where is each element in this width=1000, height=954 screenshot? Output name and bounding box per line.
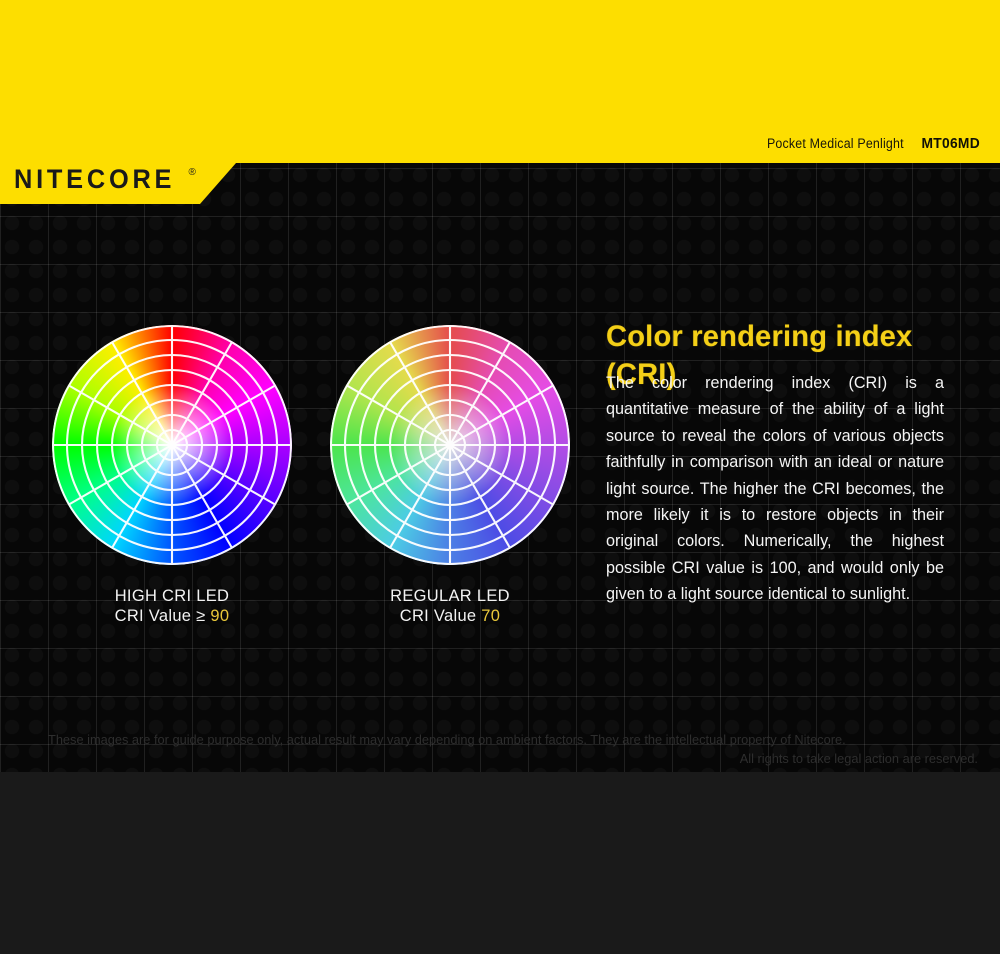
product-infographic-page: Pocket Medical Penlight MT06MD NITECORE … bbox=[0, 0, 1000, 954]
label-regular-value-number: 70 bbox=[481, 607, 500, 625]
label-high-cri-title: HIGH CRI LED bbox=[42, 586, 302, 606]
footer-area bbox=[0, 772, 1000, 954]
label-regular-value: CRI Value 70 bbox=[320, 606, 580, 626]
color-wheel-high-cri bbox=[52, 325, 292, 565]
polar-grid-high-cri bbox=[52, 325, 292, 565]
color-wheel-regular bbox=[330, 325, 570, 565]
brand-logo: NITECORE ® bbox=[14, 164, 196, 194]
brand-name: NITECORE bbox=[14, 164, 175, 194]
banner-caption: Pocket Medical Penlight MT06MD bbox=[761, 135, 982, 152]
label-high-cri-value-prefix: CRI Value ≥ bbox=[115, 607, 211, 625]
label-high-cri-value-number: 90 bbox=[210, 607, 229, 625]
cri-description-paragraph: The color rendering index (CRI) is a qua… bbox=[606, 370, 944, 608]
label-high-cri: HIGH CRI LED CRI Value ≥ 90 bbox=[42, 586, 302, 626]
label-regular: REGULAR LED CRI Value 70 bbox=[320, 586, 580, 626]
label-regular-title: REGULAR LED bbox=[320, 586, 580, 606]
registered-trademark-icon: ® bbox=[189, 166, 196, 180]
header-banner: Pocket Medical Penlight MT06MD bbox=[0, 0, 1000, 163]
product-model-label: MT06MD bbox=[921, 135, 979, 152]
disclaimer-line-1: These images are for guide purpose only,… bbox=[48, 730, 978, 749]
label-regular-value-prefix: CRI Value bbox=[400, 607, 482, 625]
product-category-label: Pocket Medical Penlight bbox=[767, 136, 904, 151]
label-high-cri-value: CRI Value ≥ 90 bbox=[42, 606, 302, 626]
polar-grid-regular bbox=[330, 325, 570, 565]
disclaimer-line-2: All rights to take legal action are rese… bbox=[48, 749, 978, 768]
disclaimer: These images are for guide purpose only,… bbox=[48, 730, 978, 768]
